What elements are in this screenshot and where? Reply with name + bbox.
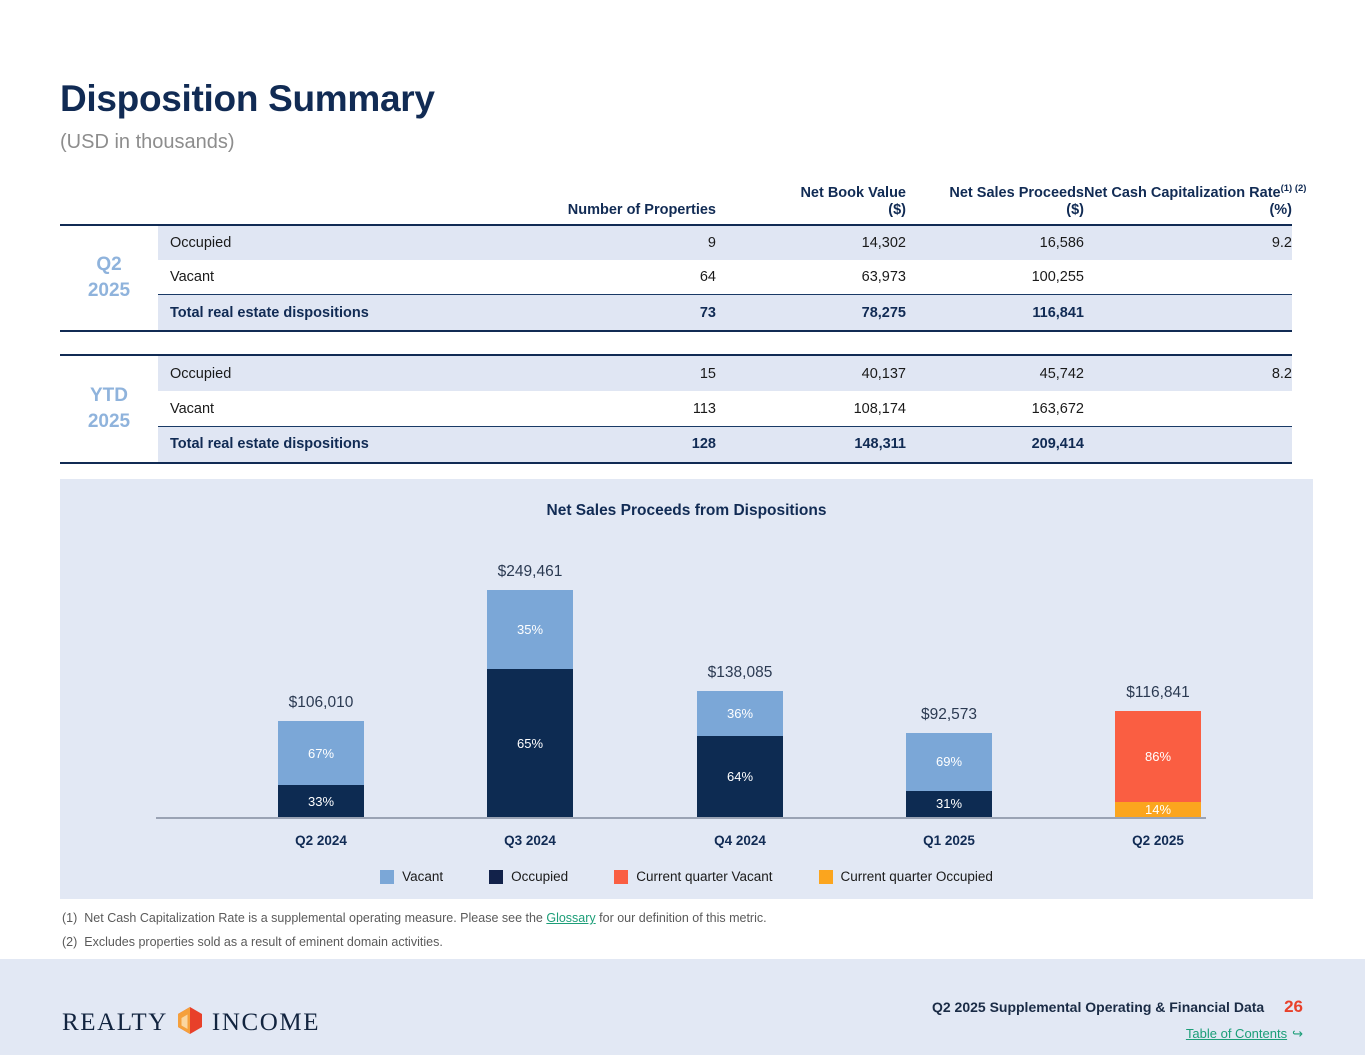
footnotes: (1) Net Cash Capitalization Rate is a su…: [62, 906, 1162, 954]
bar-segment-current-quarter-vacant[interactable]: 86%: [1115, 711, 1201, 802]
legend-label: Current quarter Vacant: [636, 869, 772, 884]
legend-label: Vacant: [402, 869, 443, 884]
row-properties: 64: [518, 260, 716, 295]
table-header-row: Number of Properties Net Book Value ($) …: [60, 180, 1292, 224]
legend-label: Occupied: [511, 869, 568, 884]
bar-segment-label: 35%: [517, 622, 543, 637]
row-properties: 15: [518, 356, 716, 391]
legend-item[interactable]: Current quarter Occupied: [819, 869, 993, 884]
bar-segment-current-quarter-occupied[interactable]: 14%: [1115, 802, 1201, 817]
x-axis-line: [156, 817, 1206, 819]
footnote-1-text-after: for our definition of this metric.: [596, 911, 767, 925]
footnote-1-text-before: Net Cash Capitalization Rate is a supple…: [84, 911, 546, 925]
table-of-contents-link[interactable]: Table of Contents: [1186, 1026, 1287, 1041]
row-cap-rate: [1084, 391, 1292, 426]
col-header-properties: Number of Properties: [518, 180, 716, 224]
row-net-book-value: 14,302: [716, 225, 906, 260]
footnote-2-text: Excludes properties sold as a result of …: [84, 930, 443, 954]
bar-total-label: $249,461: [430, 563, 630, 581]
bar-segment-label: 14%: [1145, 802, 1171, 817]
logo-text-realty: REALTY: [62, 1009, 168, 1037]
total-net-book-value: 148,311: [716, 427, 906, 462]
disposition-table: Number of Properties Net Book Value ($) …: [60, 180, 1292, 464]
stacked-bar[interactable]: 35%65%: [487, 590, 573, 817]
bar-segment-label: 65%: [517, 736, 543, 751]
legend-item[interactable]: Vacant: [380, 869, 443, 884]
realty-income-logo: REALTY INCOME: [62, 1005, 320, 1040]
legend-label: Current quarter Occupied: [841, 869, 993, 884]
x-axis-label: Q1 2025: [849, 833, 1049, 848]
legend-swatch-icon: [819, 870, 833, 884]
row-properties: 9: [518, 225, 716, 260]
bar-total-label: $138,085: [640, 664, 840, 682]
col-header-net-book-value: Net Book Value ($): [716, 180, 906, 224]
legend-item[interactable]: Occupied: [489, 869, 568, 884]
stacked-bar[interactable]: 67%33%: [278, 721, 364, 817]
bar-segment-vacant[interactable]: 36%: [697, 691, 783, 736]
page-title: Disposition Summary: [60, 78, 435, 120]
bar-total-label: $116,841: [1058, 684, 1258, 702]
stacked-bar[interactable]: 69%31%: [906, 733, 992, 817]
legend-swatch-icon: [614, 870, 628, 884]
block-side-label-ytd: YTD 2025: [60, 356, 158, 462]
bar-segment-label: 67%: [308, 746, 334, 761]
total-label: Total real estate dispositions: [158, 427, 518, 462]
row-label: Occupied: [158, 225, 518, 260]
row-cap-rate: 8.2: [1084, 356, 1292, 391]
bar-segment-vacant[interactable]: 67%: [278, 721, 364, 785]
stacked-bar[interactable]: 36%64%: [697, 691, 783, 817]
bar-segment-occupied[interactable]: 65%: [487, 669, 573, 817]
footer: REALTY INCOME Q2 2025 Supplemental Opera…: [0, 958, 1365, 1055]
bar-segment-occupied[interactable]: 31%: [906, 791, 992, 817]
bar-segment-label: 69%: [936, 754, 962, 769]
slide-page: Disposition Summary (USD in thousands) N…: [0, 0, 1365, 1055]
x-axis-label: Q4 2024: [640, 833, 840, 848]
footer-meta: Q2 2025 Supplemental Operating & Financi…: [932, 997, 1303, 1042]
row-cap-rate: [1084, 260, 1292, 295]
total-cap-rate: [1084, 427, 1292, 462]
row-label: Occupied: [158, 356, 518, 391]
legend-swatch-icon: [489, 870, 503, 884]
table-row: Vacant 113 108,174 163,672: [60, 391, 1292, 426]
col-header-net-sales-proceeds: Net Sales Proceeds ($): [906, 180, 1084, 224]
net-sales-proceeds-chart: Net Sales Proceeds from Dispositions 67%…: [60, 479, 1313, 899]
block-gap: [60, 331, 1292, 355]
page-subtitle: (USD in thousands): [60, 131, 235, 154]
bar-segment-label: 36%: [727, 706, 753, 721]
row-label: Vacant: [158, 260, 518, 295]
glossary-link[interactable]: Glossary: [546, 911, 595, 925]
legend-swatch-icon: [380, 870, 394, 884]
bar-segment-label: 31%: [936, 796, 962, 811]
chart-legend: VacantOccupiedCurrent quarter VacantCurr…: [60, 869, 1313, 884]
chart-plot-area: 67%33%$106,010Q2 202435%65%$249,461Q3 20…: [60, 479, 1313, 899]
total-cap-rate: [1084, 295, 1292, 330]
x-axis-label: Q2 2025: [1058, 833, 1258, 848]
footnote-2-marker: (2): [62, 930, 77, 954]
house-hexagon-icon: [175, 1005, 205, 1040]
logo-text-income: INCOME: [212, 1009, 320, 1037]
row-net-book-value: 63,973: [716, 260, 906, 295]
table-total-row: Total real estate dispositions 73 78,275…: [60, 295, 1292, 330]
legend-item[interactable]: Current quarter Vacant: [614, 869, 772, 884]
total-properties: 128: [518, 427, 716, 462]
bar-total-label: $92,573: [849, 706, 1049, 724]
row-net-book-value: 108,174: [716, 391, 906, 426]
document-title: Q2 2025 Supplemental Operating & Financi…: [932, 999, 1264, 1015]
x-axis-label: Q2 2024: [221, 833, 421, 848]
col-header-net-cash-cap-rate: Net Cash Capitalization Rate(1) (2) (%): [1084, 180, 1292, 224]
bar-total-label: $106,010: [221, 694, 421, 712]
total-label: Total real estate dispositions: [158, 295, 518, 330]
footnote-1-marker: (1): [62, 906, 77, 930]
footnote-1: (1) Net Cash Capitalization Rate is a su…: [62, 906, 1162, 930]
row-net-sales-proceeds: 16,586: [906, 225, 1084, 260]
row-label: Vacant: [158, 391, 518, 426]
row-net-sales-proceeds: 163,672: [906, 391, 1084, 426]
row-properties: 113: [518, 391, 716, 426]
table-total-row: Total real estate dispositions 128 148,3…: [60, 427, 1292, 462]
block-end-rule: [60, 462, 1292, 463]
total-net-book-value: 78,275: [716, 295, 906, 330]
bar-segment-label: 33%: [308, 794, 334, 809]
row-net-book-value: 40,137: [716, 356, 906, 391]
x-axis-label: Q3 2024: [430, 833, 630, 848]
bar-segment-vacant[interactable]: 69%: [906, 733, 992, 791]
block-side-label-q2: Q2 2025: [60, 225, 158, 331]
row-cap-rate: 9.2: [1084, 225, 1292, 260]
footnote-2: (2) Excludes properties sold as a result…: [62, 930, 1162, 954]
bar-segment-occupied[interactable]: 33%: [278, 785, 364, 817]
total-net-sales-proceeds: 209,414: [906, 427, 1084, 462]
bar-segment-vacant[interactable]: 35%: [487, 590, 573, 669]
table-row: Vacant 64 63,973 100,255: [60, 260, 1292, 295]
total-properties: 73: [518, 295, 716, 330]
total-net-sales-proceeds: 116,841: [906, 295, 1084, 330]
row-net-sales-proceeds: 45,742: [906, 356, 1084, 391]
row-net-sales-proceeds: 100,255: [906, 260, 1084, 295]
table-row: YTD 2025 Occupied 15 40,137 45,742 8.2: [60, 356, 1292, 391]
bar-segment-occupied[interactable]: 64%: [697, 736, 783, 817]
bar-segment-label: 64%: [727, 769, 753, 784]
footnote-ref: (1) (2): [1281, 183, 1307, 194]
table-row: Q2 2025 Occupied 9 14,302 16,586 9.2: [60, 225, 1292, 260]
page-number: 26: [1284, 997, 1303, 1016]
bar-segment-label: 86%: [1145, 749, 1171, 764]
arrow-right-icon[interactable]: ↪: [1292, 1026, 1303, 1041]
stacked-bar[interactable]: 86%14%: [1115, 711, 1201, 817]
